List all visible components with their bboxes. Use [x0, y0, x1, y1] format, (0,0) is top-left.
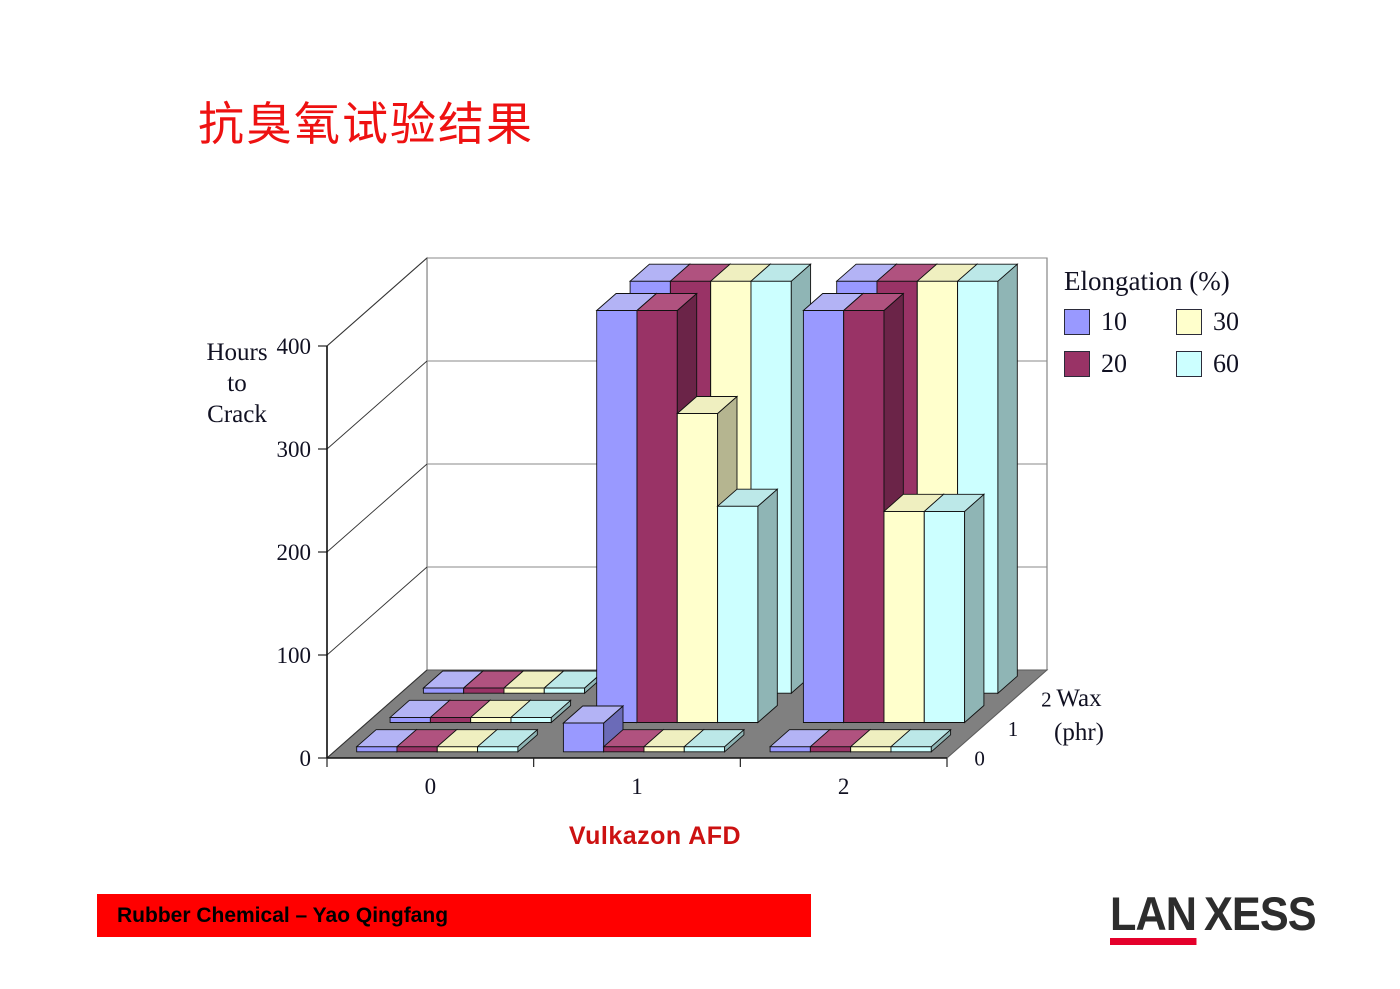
legend-label: 30: [1213, 307, 1239, 337]
logo-xess-text: XESS: [1204, 890, 1316, 937]
legend-swatch-icon: [1176, 309, 1202, 335]
svg-text:300: 300: [277, 437, 312, 462]
legend-label: 20: [1101, 349, 1127, 379]
legend-label: 10: [1101, 307, 1127, 337]
svg-text:to: to: [227, 370, 246, 397]
page-title: 抗臭氧试验结果: [198, 88, 534, 154]
legend-label: 60: [1213, 349, 1239, 379]
svg-text:1: 1: [1008, 717, 1019, 741]
legend-row: 10 30: [1064, 307, 1304, 337]
svg-text:0: 0: [300, 746, 312, 771]
svg-text:200: 200: [277, 540, 312, 565]
legend-item-20[interactable]: 20: [1064, 349, 1176, 379]
svg-text:(phr): (phr): [1054, 719, 1104, 746]
legend-item-10[interactable]: 10: [1064, 307, 1176, 337]
svg-text:Crack: Crack: [207, 401, 267, 428]
legend-swatch-icon: [1064, 309, 1090, 335]
legend-row: 20 60: [1064, 349, 1304, 379]
legend-swatch-icon: [1176, 351, 1202, 377]
svg-text:2: 2: [838, 774, 850, 799]
svg-text:100: 100: [277, 643, 312, 668]
chart-x-axis-title: Vulkazon AFD: [0, 822, 1310, 851]
footer-bar: Rubber Chemical – Yao Qingfang: [97, 894, 811, 937]
legend-item-60[interactable]: 60: [1176, 349, 1288, 379]
svg-text:Hours: Hours: [206, 339, 267, 366]
legend-title: Elongation (%): [1064, 266, 1304, 297]
svg-text:0: 0: [974, 746, 985, 770]
slide-canvas: 抗臭氧试验结果 0100200300400012012HourstoCrackW…: [0, 0, 1400, 989]
svg-text:0: 0: [425, 774, 437, 799]
svg-text:Wax: Wax: [1056, 685, 1102, 712]
footer-text: Rubber Chemical – Yao Qingfang: [117, 904, 448, 928]
svg-text:400: 400: [277, 334, 312, 359]
lanxess-logo: LANXESS: [1110, 890, 1325, 945]
legend-swatch-icon: [1064, 351, 1090, 377]
chart-legend: Elongation (%) 10 30 20 60: [1064, 266, 1304, 391]
legend-item-30[interactable]: 30: [1176, 307, 1288, 337]
logo-lan-text: LAN: [1110, 890, 1196, 945]
svg-text:1: 1: [631, 774, 643, 799]
svg-text:2: 2: [1041, 688, 1052, 712]
